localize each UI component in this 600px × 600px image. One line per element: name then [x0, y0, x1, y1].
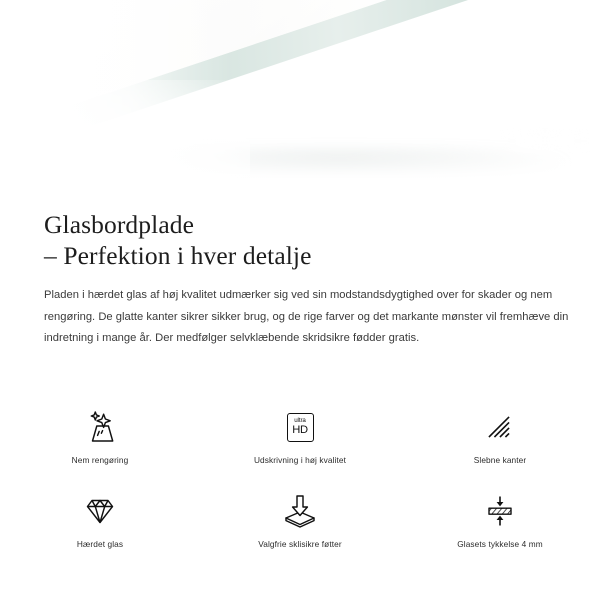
feature-tempered-glass: Hærdet glas	[0, 482, 200, 566]
feature-easy-cleaning: Nem rengøring	[0, 398, 200, 482]
polished-edges-icon	[484, 406, 516, 448]
description-content: Glasbordplade – Perfektion i hver detalj…	[0, 200, 600, 350]
feature-high-quality-print: ultra HD Udskrivning i høj kvalitet	[200, 398, 400, 482]
hd-badge-bottom-text: HD	[292, 425, 308, 436]
feature-polished-edges: Slebne kanter	[400, 398, 600, 482]
sparkle-surface-icon	[81, 406, 119, 448]
hd-badge-frame: ultra HD	[287, 413, 314, 442]
feature-label: Slebne kanter	[474, 455, 527, 466]
page-title-line-1: Glasbordplade	[44, 210, 194, 239]
page-title: Glasbordplade – Perfektion i hver detalj…	[0, 200, 600, 271]
anti-slip-feet-icon	[281, 490, 319, 532]
product-description-page: Glasbordplade – Perfektion i hver detalj…	[0, 0, 600, 600]
ultra-hd-badge-icon: ultra HD	[287, 406, 314, 448]
feature-label: Hærdet glas	[77, 539, 123, 550]
page-title-line-2: – Perfektion i hver detalje	[44, 240, 600, 271]
feature-label: Valgfrie sklisikre føtter	[258, 539, 342, 550]
feature-label: Glasets tykkelse 4 mm	[457, 539, 543, 550]
glass-thickness-icon	[482, 490, 518, 532]
product-description-paragraph: Pladen i hærdet glas af høj kvalitet udm…	[0, 271, 598, 350]
feature-label: Udskrivning i høj kvalitet	[254, 455, 346, 466]
diamond-icon	[81, 490, 119, 532]
feature-glass-thickness: Glasets tykkelse 4 mm	[400, 482, 600, 566]
photo-fade-corner	[0, 80, 250, 200]
feature-anti-slip-feet: Valgfrie sklisikre føtter	[200, 482, 400, 566]
feature-list: Nem rengøring ultra HD Udskrivning i høj…	[0, 398, 600, 566]
product-photo	[0, 0, 600, 200]
feature-label: Nem rengøring	[72, 455, 129, 466]
